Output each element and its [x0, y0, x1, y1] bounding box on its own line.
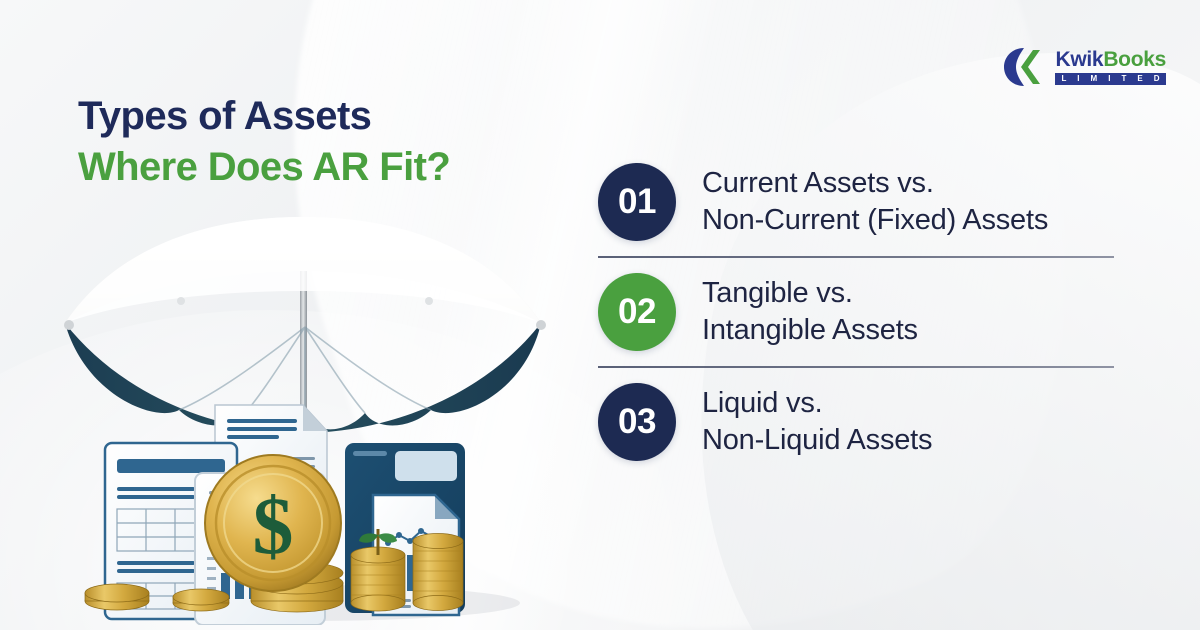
list-item-number-badge: 01 [598, 163, 676, 241]
umbrella-documents-coins-graphic: $ [55, 205, 555, 625]
logo-tagline: L I M I T E D [1055, 73, 1166, 85]
list-item-label-line1: Current Assets vs. [702, 165, 1048, 202]
logo-name-part2: Books [1103, 48, 1166, 71]
list-item[interactable]: 02 Tangible vs. Intangible Assets [598, 258, 1114, 366]
list-item-label-line2: Non-Current (Fixed) Assets [702, 202, 1048, 239]
list-item-label: Tangible vs. Intangible Assets [702, 275, 918, 349]
coin-stack-right-b [413, 534, 463, 611]
logo-name: KwikBooks [1055, 49, 1166, 70]
list-divider [598, 256, 1114, 258]
asset-types-list: 01 Current Assets vs. Non-Current (Fixed… [598, 148, 1114, 476]
list-item-label: Current Assets vs. Non-Current (Fixed) A… [702, 165, 1048, 239]
assets-illustration: $ [55, 205, 555, 625]
list-item-number-badge: 02 [598, 273, 676, 351]
list-item-label: Liquid vs. Non-Liquid Assets [702, 385, 932, 459]
list-item-number-badge: 03 [598, 383, 676, 461]
list-item-label-line1: Liquid vs. [702, 385, 932, 422]
list-item-label-line1: Tangible vs. [702, 275, 918, 312]
dollar-coin: $ [205, 455, 341, 591]
logo-name-part1: Kwik [1055, 48, 1103, 71]
list-divider [598, 366, 1114, 368]
title-line-primary: Types of Assets [78, 94, 598, 139]
logo-wordmark: KwikBooks L I M I T E D [1055, 49, 1166, 85]
infographic-canvas: KwikBooks L I M I T E D Types of Assets … [0, 0, 1200, 630]
list-item-label-line2: Intangible Assets [702, 312, 918, 349]
page-title: Types of Assets Where Does AR Fit? [78, 94, 598, 190]
list-item[interactable]: 01 Current Assets vs. Non-Current (Fixed… [598, 148, 1114, 256]
list-item-label-line2: Non-Liquid Assets [702, 422, 932, 459]
svg-text:$: $ [253, 480, 294, 571]
brand-logo[interactable]: KwikBooks L I M I T E D [1002, 44, 1166, 90]
title-line-secondary: Where Does AR Fit? [78, 145, 598, 190]
list-item[interactable]: 03 Liquid vs. Non-Liquid Assets [598, 368, 1114, 476]
double-chevron-icon [1002, 44, 1048, 90]
